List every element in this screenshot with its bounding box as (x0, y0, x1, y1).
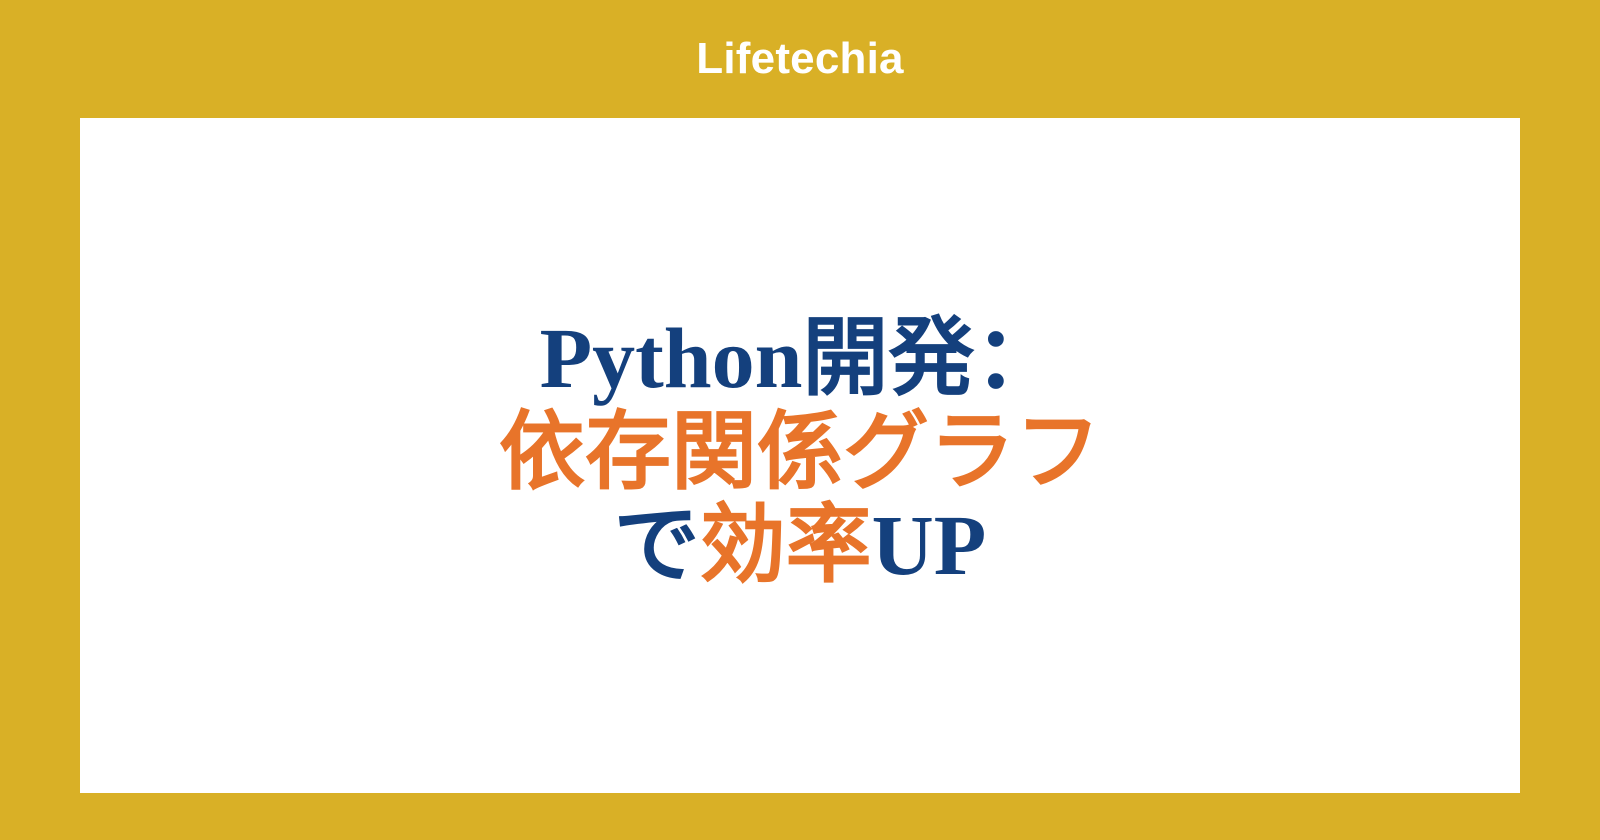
title-line-3-segment-2: 効率 (700, 497, 872, 593)
title-card: Python開発： 依存関係グラフ で効率UP (80, 118, 1520, 793)
page-title: Python開発： 依存関係グラフ で効率UP (499, 312, 1101, 593)
poster-canvas: Lifetechia Python開発： 依存関係グラフ で効率UP (0, 0, 1600, 840)
title-line-3-segment-1: で (614, 497, 700, 593)
title-line-3-segment-3: UP (872, 497, 987, 593)
brand-title: Lifetechia (696, 37, 903, 81)
brand-header: Lifetechia (80, 0, 1520, 118)
title-line-2: 依存関係グラフ (499, 406, 1101, 500)
title-line-3: で効率UP (499, 499, 1101, 593)
title-line-1: Python開発： (499, 312, 1101, 406)
title-line-1-segment-1: Python開発： (540, 310, 1061, 406)
title-line-2-segment-1: 依存関係グラフ (499, 404, 1101, 500)
